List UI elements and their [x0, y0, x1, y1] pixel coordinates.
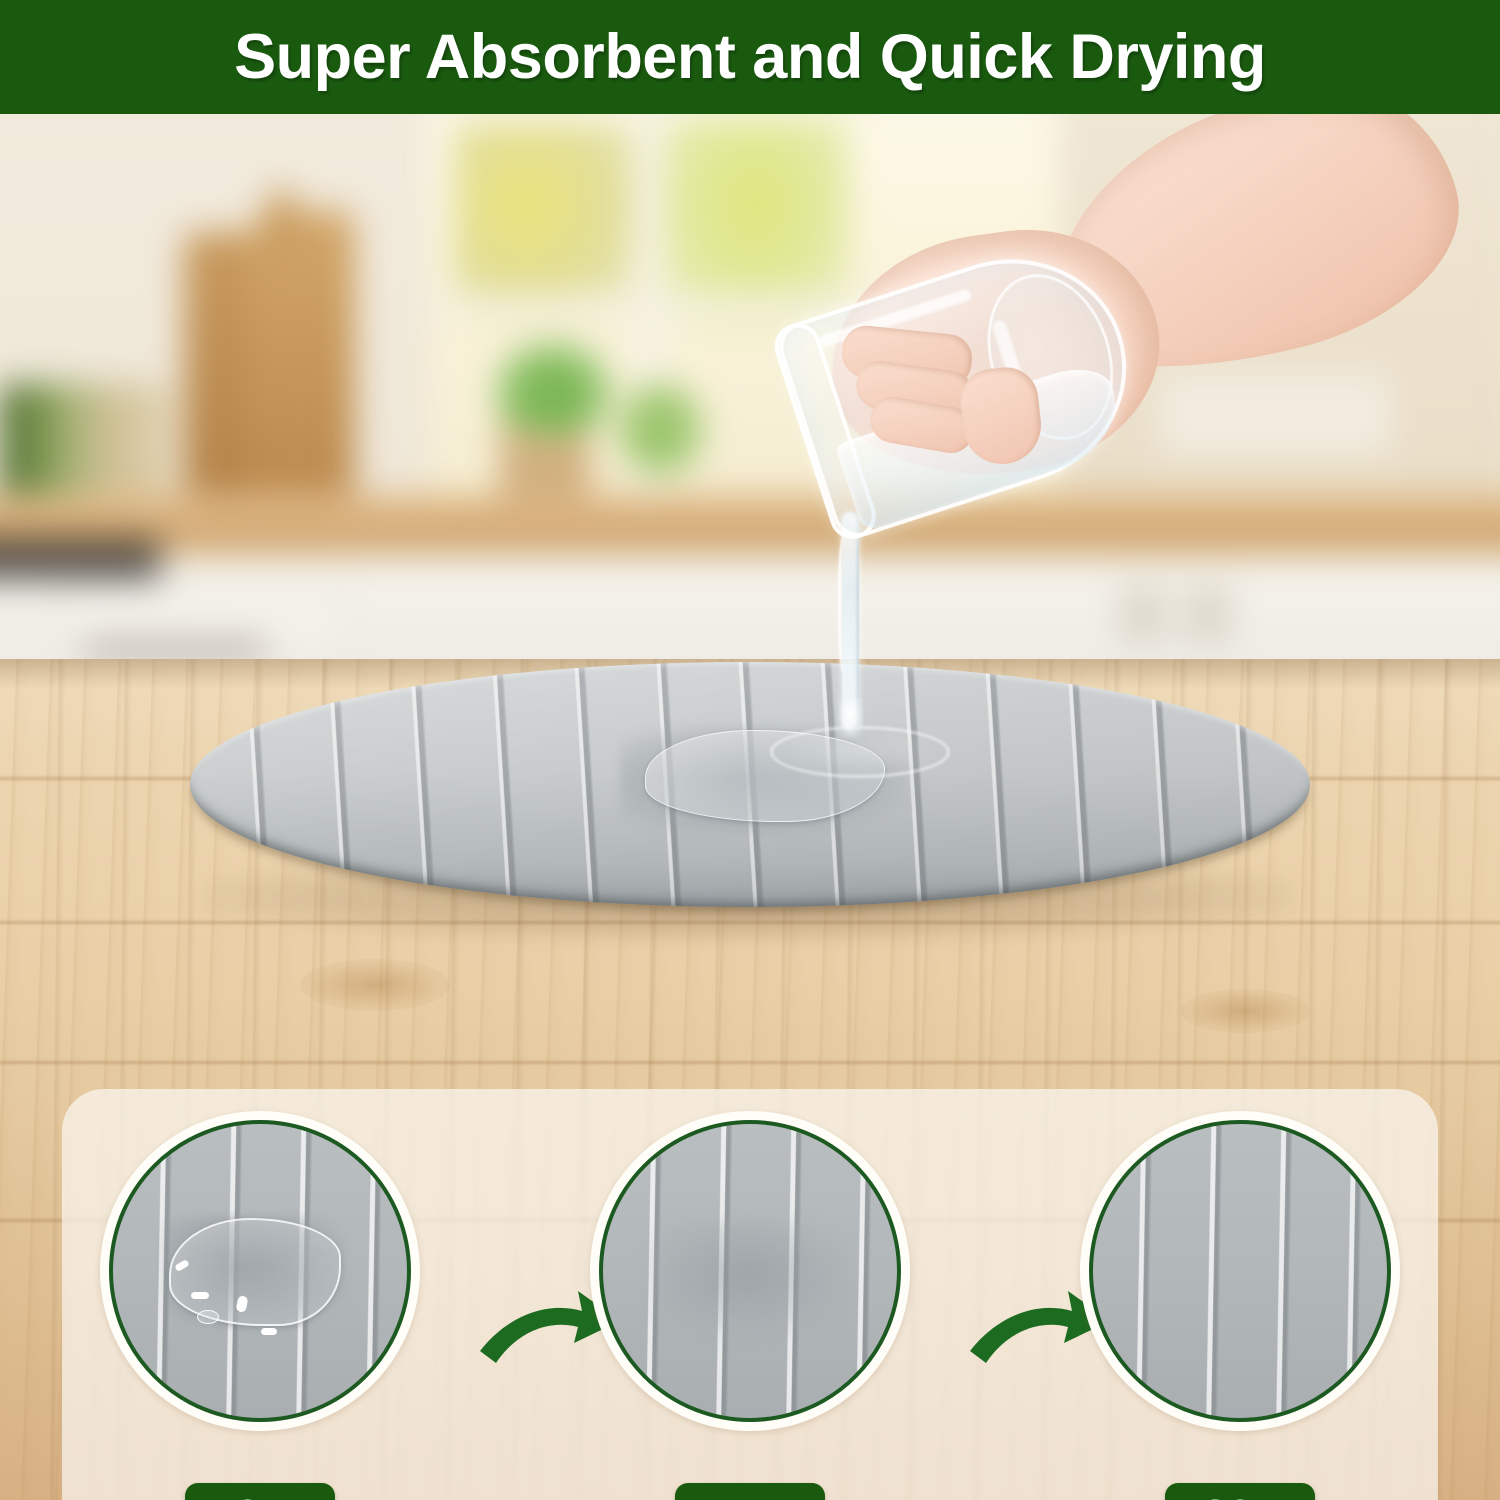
timeline-step-0s: 0s: [100, 1111, 420, 1500]
plant-foliage-right: [618, 382, 703, 477]
mat-body: [190, 662, 1310, 907]
cutting-board-front: [245, 210, 355, 535]
status-badge-15s: 15s: [675, 1483, 825, 1500]
stream-tip: [838, 698, 863, 738]
product-marketing-image: Super Absorbent and Quick Drying: [0, 0, 1500, 1500]
timeline-step-15s: 15s: [590, 1111, 910, 1500]
wall-socket-right: [1185, 584, 1231, 644]
page-title: Super Absorbent and Quick Drying: [234, 21, 1266, 93]
drying-mat: [190, 662, 1310, 932]
water-puddle-icon: [169, 1218, 341, 1326]
wood-knot: [300, 959, 450, 1011]
dry-surface-icon: [1089, 1120, 1391, 1422]
wall-socket-left: [1120, 584, 1166, 644]
plank-seam: [0, 1061, 1500, 1064]
timeline-step-30s: 30s: [1080, 1111, 1400, 1500]
absorption-timeline-panel: 0s 15s: [62, 1089, 1438, 1500]
step-photo-frame: [1080, 1111, 1400, 1431]
step-photo: [109, 1120, 411, 1422]
timeline-steps: 0s 15s: [62, 1089, 1438, 1500]
wood-knot: [1180, 989, 1310, 1033]
cutting-board-handle: [268, 190, 294, 250]
puddle-highlight: [191, 1292, 209, 1299]
header-banner: Super Absorbent and Quick Drying: [0, 0, 1500, 114]
hero-photo-scene: 0s 15s: [0, 114, 1500, 1500]
step-photo: [1089, 1120, 1391, 1422]
step-photo-frame: [590, 1111, 910, 1431]
step-photo: [599, 1120, 901, 1422]
water-droplet: [197, 1310, 219, 1324]
drawer-handle: [85, 642, 265, 656]
status-badge-30s: 30s: [1165, 1483, 1315, 1500]
stove-top: [0, 538, 160, 580]
plant-foliage: [498, 344, 608, 434]
puddle-highlight: [261, 1328, 277, 1335]
window-mullion: [636, 114, 662, 544]
step-photo-frame: [100, 1111, 420, 1431]
damp-spot-icon: [651, 1219, 851, 1334]
hand-pouring-glass: [790, 114, 1430, 584]
status-badge-0s: 0s: [185, 1483, 335, 1500]
